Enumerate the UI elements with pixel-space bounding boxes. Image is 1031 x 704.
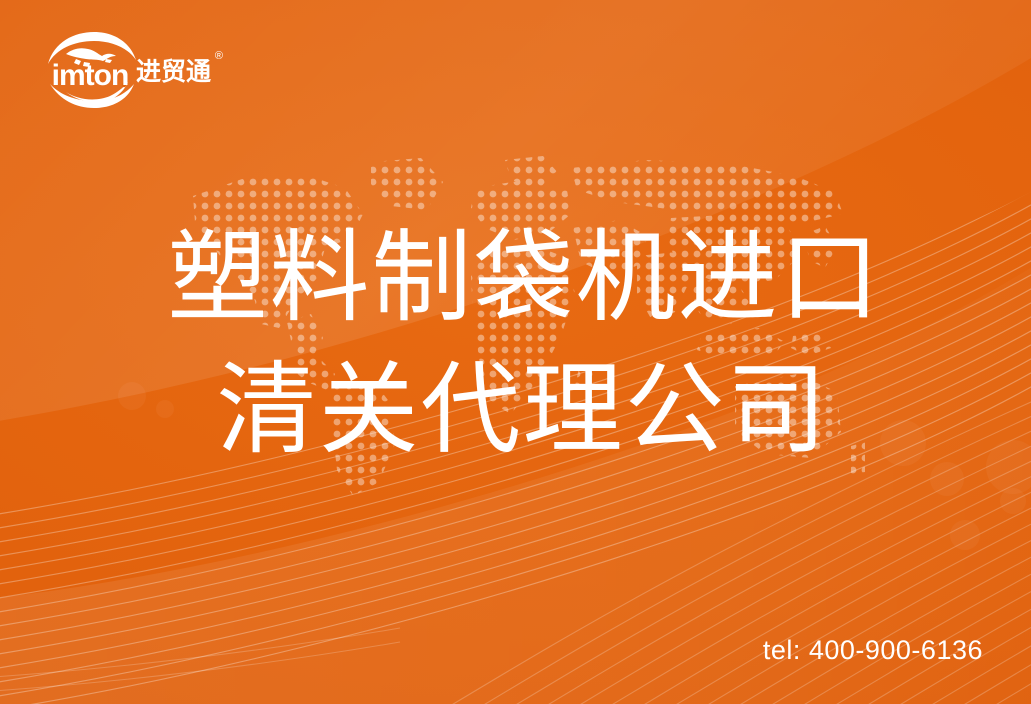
brand-logo[interactable]: imton 进贸通 ®	[40, 30, 240, 110]
promotional-banner: imton 进贸通 ® 塑料制袋机进口 清关代理公司 tel: 400-900-…	[0, 0, 1031, 704]
globe-world-icon: imton	[40, 30, 140, 110]
page-title: 塑料制袋机进口 清关代理公司	[0, 228, 1031, 460]
brand-chinese-name: 进贸通 ®	[136, 60, 211, 85]
registered-trademark-icon: ®	[215, 51, 223, 62]
brand-chinese-text: 进贸通	[136, 58, 211, 86]
contact-phone[interactable]: tel: 400-900-6136	[763, 635, 983, 666]
svg-text:imton: imton	[52, 59, 129, 92]
headline-line-1: 塑料制袋机进口	[18, 228, 1031, 328]
headline-line-2: 清关代理公司	[14, 360, 1031, 460]
